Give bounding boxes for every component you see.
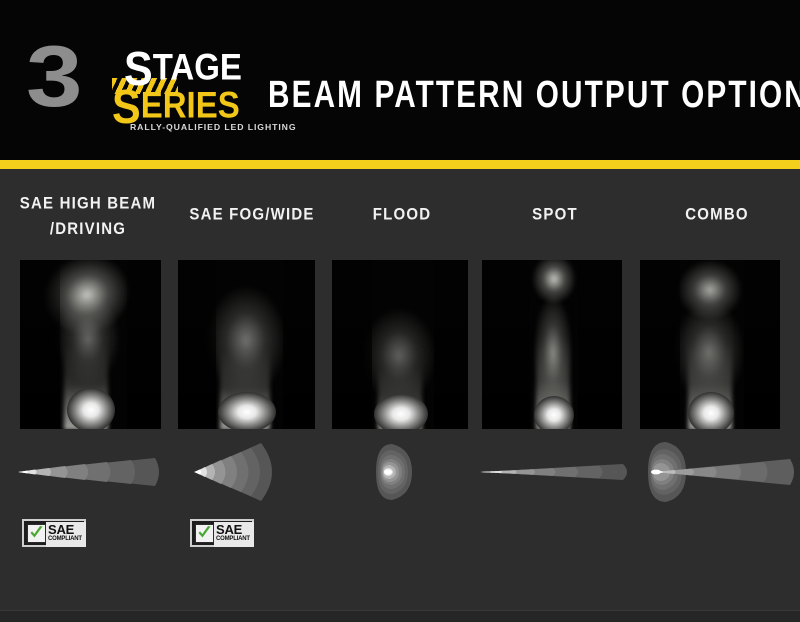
photo-tree-left [482,260,530,429]
logo-word-stage: STAGE [124,48,242,88]
badge-subtitle: COMPLIANT [48,536,86,543]
column-label-line2: /DRIVING [0,216,176,241]
beam-shape-flood [362,441,442,503]
photo-flood [332,260,468,429]
badge-title: SAE [48,523,86,537]
logo-word-series: SERIES [112,86,240,126]
column-label-line1: SAE FOG/WIDE [176,202,328,227]
accent-divider [0,160,800,169]
photo-hotspot [534,396,574,429]
column-spot: SPOT [476,169,634,622]
beam-diagram-flood [328,441,476,503]
photo-hotspot [218,392,276,429]
beam-diagram-combo [634,441,800,503]
photo-combo [640,260,780,429]
photo-hotspot [688,392,734,429]
footer-strip [0,611,800,622]
logo-tagline: RALLY-QUALIFIED LED LIGHTING [130,122,297,132]
page-title: BEAM PATTERN OUTPUT OPTIONS [268,74,800,115]
photo-tree-right [578,260,622,429]
logo-numeral-3: 3 [26,34,79,120]
beam-pattern-chart: 3 STAGE SERIES RALLY-QUALIFIED LED LIGHT… [0,0,800,622]
photo-tree-left [332,260,372,429]
column-label-combo: COMBO [634,202,800,227]
checkmark-box [27,524,46,543]
column-label-flood: FLOOD [328,202,476,227]
column-label-line1: SAE HIGH BEAM [0,191,176,216]
photo-spot [482,260,622,429]
column-sae-high-beam-driving: SAE HIGH BEAM /DRIVING [0,169,176,622]
column-label-line1: COMBO [634,202,800,227]
column-label-spot: SPOT [476,202,634,227]
photo-tree-left [20,260,60,429]
photo-tree-right [127,260,161,429]
column-flood: FLOOD [328,169,476,622]
photo-tree-right [744,260,780,429]
header-banner: 3 STAGE SERIES RALLY-QUALIFIED LED LIGHT… [0,0,800,160]
column-label-line1: SPOT [476,202,634,227]
check-icon [197,526,212,541]
badge-subtitle: COMPLIANT [216,536,254,543]
beam-diagram-sae-fog-wide [176,441,328,503]
checkmark-box [195,524,214,543]
check-icon [29,526,44,541]
sae-compliant-badge-1: SAE COMPLIANT [22,519,86,547]
column-combo: COMBO [634,169,800,622]
photo-tree-left [178,260,216,429]
logo-series-rest: ERIES [141,84,240,125]
photo-sae-fog-wide [178,260,315,429]
brand-logo: 3 STAGE SERIES RALLY-QUALIFIED LED LIGHT… [26,34,254,126]
beam-diagram-spot [476,441,634,503]
sae-compliant-badge-2: SAE COMPLIANT [190,519,254,547]
column-label-line1: FLOOD [328,202,476,227]
beam-diagram-sae-high-beam-driving [0,441,176,503]
photo-hotspot [67,388,115,429]
column-sae-fog-wide: SAE FOG/WIDE [176,169,328,622]
column-label-sae-fog-wide: SAE FOG/WIDE [176,202,328,227]
badge-title: SAE [216,523,254,537]
beam-shape-driving [13,441,163,503]
photo-sae-high-beam-driving [20,260,161,429]
photo-hotspot [374,394,428,429]
column-label-sae-high-beam-driving: SAE HIGH BEAM /DRIVING [0,191,176,242]
beam-columns: SAE HIGH BEAM /DRIVING [0,169,800,622]
photo-tree-right [283,260,315,429]
photo-tree-left [640,260,680,429]
photo-tree-right [434,260,468,429]
logo-stage-rest: TAGE [153,46,242,87]
beam-shape-wide [187,441,317,503]
beam-shape-spot [477,441,633,503]
beam-shape-combo [634,441,800,503]
